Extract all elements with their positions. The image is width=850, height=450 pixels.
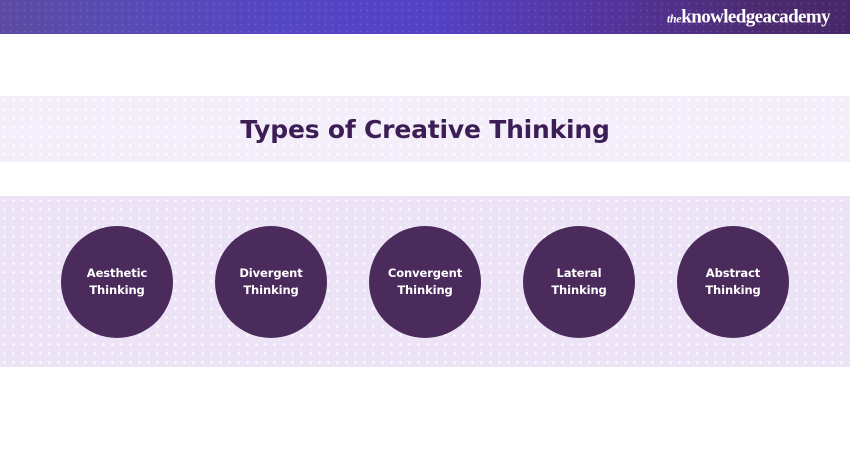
circle-label-line1: Aesthetic xyxy=(87,265,147,282)
circle-label-line2: Thinking xyxy=(397,282,452,299)
circle-label-line2: Thinking xyxy=(243,282,298,299)
circle-label-line1: Divergent xyxy=(239,265,302,282)
thinking-types-row: Aesthetic Thinking Divergent Thinking Co… xyxy=(0,196,850,367)
page-title: Types of Creative Thinking xyxy=(240,115,609,144)
circle-label-line1: Lateral xyxy=(556,265,601,282)
brand-academy-text: academy xyxy=(762,7,830,28)
brand-knowledge-text: knowledge xyxy=(681,7,762,28)
header-bar: theknowledgeacademy xyxy=(0,0,850,34)
circle-label-line1: Convergent xyxy=(388,265,462,282)
circle-label-line2: Thinking xyxy=(551,282,606,299)
circles-band: Aesthetic Thinking Divergent Thinking Co… xyxy=(0,196,850,367)
circle-item-lateral[interactable]: Lateral Thinking xyxy=(523,226,635,338)
title-band: Types of Creative Thinking xyxy=(0,96,850,162)
brand-logo[interactable]: theknowledgeacademy xyxy=(667,8,830,27)
circle-label-line2: Thinking xyxy=(705,282,760,299)
circle-item-abstract[interactable]: Abstract Thinking xyxy=(677,226,789,338)
circle-label-line2: Thinking xyxy=(89,282,144,299)
circle-item-convergent[interactable]: Convergent Thinking xyxy=(369,226,481,338)
circle-item-aesthetic[interactable]: Aesthetic Thinking xyxy=(61,226,173,338)
circle-item-divergent[interactable]: Divergent Thinking xyxy=(215,226,327,338)
brand-prefix-text: the xyxy=(667,12,681,26)
circle-label-line1: Abstract xyxy=(706,265,760,282)
